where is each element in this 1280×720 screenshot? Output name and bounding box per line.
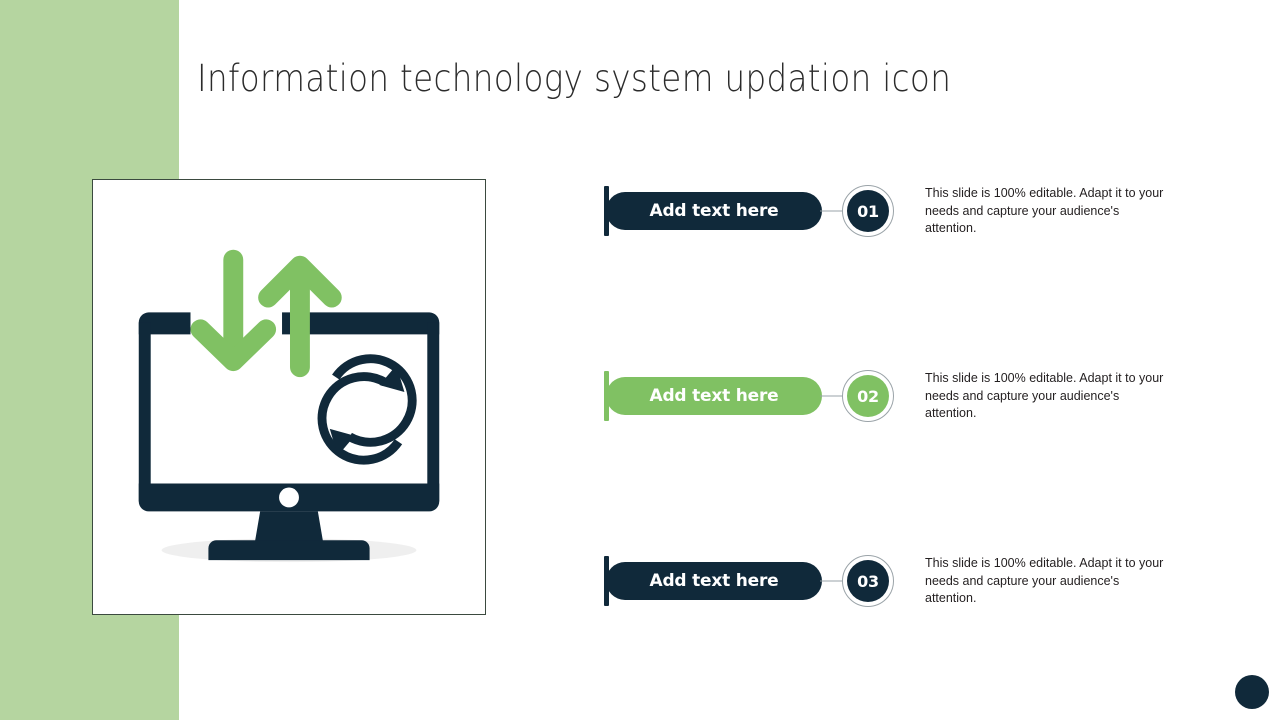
- step-badge[interactable]: 01: [842, 185, 894, 237]
- power-dot-icon: [279, 488, 299, 508]
- step-badge-inner: 03: [847, 560, 889, 602]
- monitor-frame-icon: [139, 312, 439, 511]
- step-number: 03: [857, 572, 879, 591]
- page-title: Information technology system updation i…: [197, 57, 1059, 100]
- add-text-label: Add text here: [649, 201, 778, 221]
- add-text-button[interactable]: Add text here: [606, 562, 822, 600]
- slide-canvas: Information technology system updation i…: [0, 0, 1280, 720]
- step-description: This slide is 100% editable. Adapt it to…: [925, 185, 1165, 238]
- down-arrow-icon: [200, 260, 266, 361]
- step-description: This slide is 100% editable. Adapt it to…: [925, 555, 1165, 608]
- list-item[interactable]: Add text here 03 This slide is 100% edit…: [604, 549, 1184, 613]
- list-item[interactable]: Add text here 01 This slide is 100% edit…: [604, 179, 1184, 243]
- steps-list: Add text here 01 This slide is 100% edit…: [604, 179, 1184, 619]
- step-badge[interactable]: 02: [842, 370, 894, 422]
- step-badge-inner: 01: [847, 190, 889, 232]
- computer-system-update-icon: [93, 180, 485, 614]
- step-badge-inner: 02: [847, 375, 889, 417]
- step-description: This slide is 100% editable. Adapt it to…: [925, 370, 1165, 423]
- step-badge[interactable]: 03: [842, 555, 894, 607]
- add-text-label: Add text here: [649, 386, 778, 406]
- add-text-label: Add text here: [649, 571, 778, 591]
- corner-accent-dot: [1235, 675, 1269, 709]
- illustration-panel: [92, 179, 486, 615]
- step-number: 01: [857, 202, 879, 221]
- add-text-button[interactable]: Add text here: [606, 377, 822, 415]
- step-number: 02: [857, 387, 879, 406]
- refresh-cycle-arrow-icon: [322, 359, 412, 460]
- monitor-base-icon: [208, 540, 369, 560]
- list-item[interactable]: Add text here 02 This slide is 100% edit…: [604, 364, 1184, 428]
- add-text-button[interactable]: Add text here: [606, 192, 822, 230]
